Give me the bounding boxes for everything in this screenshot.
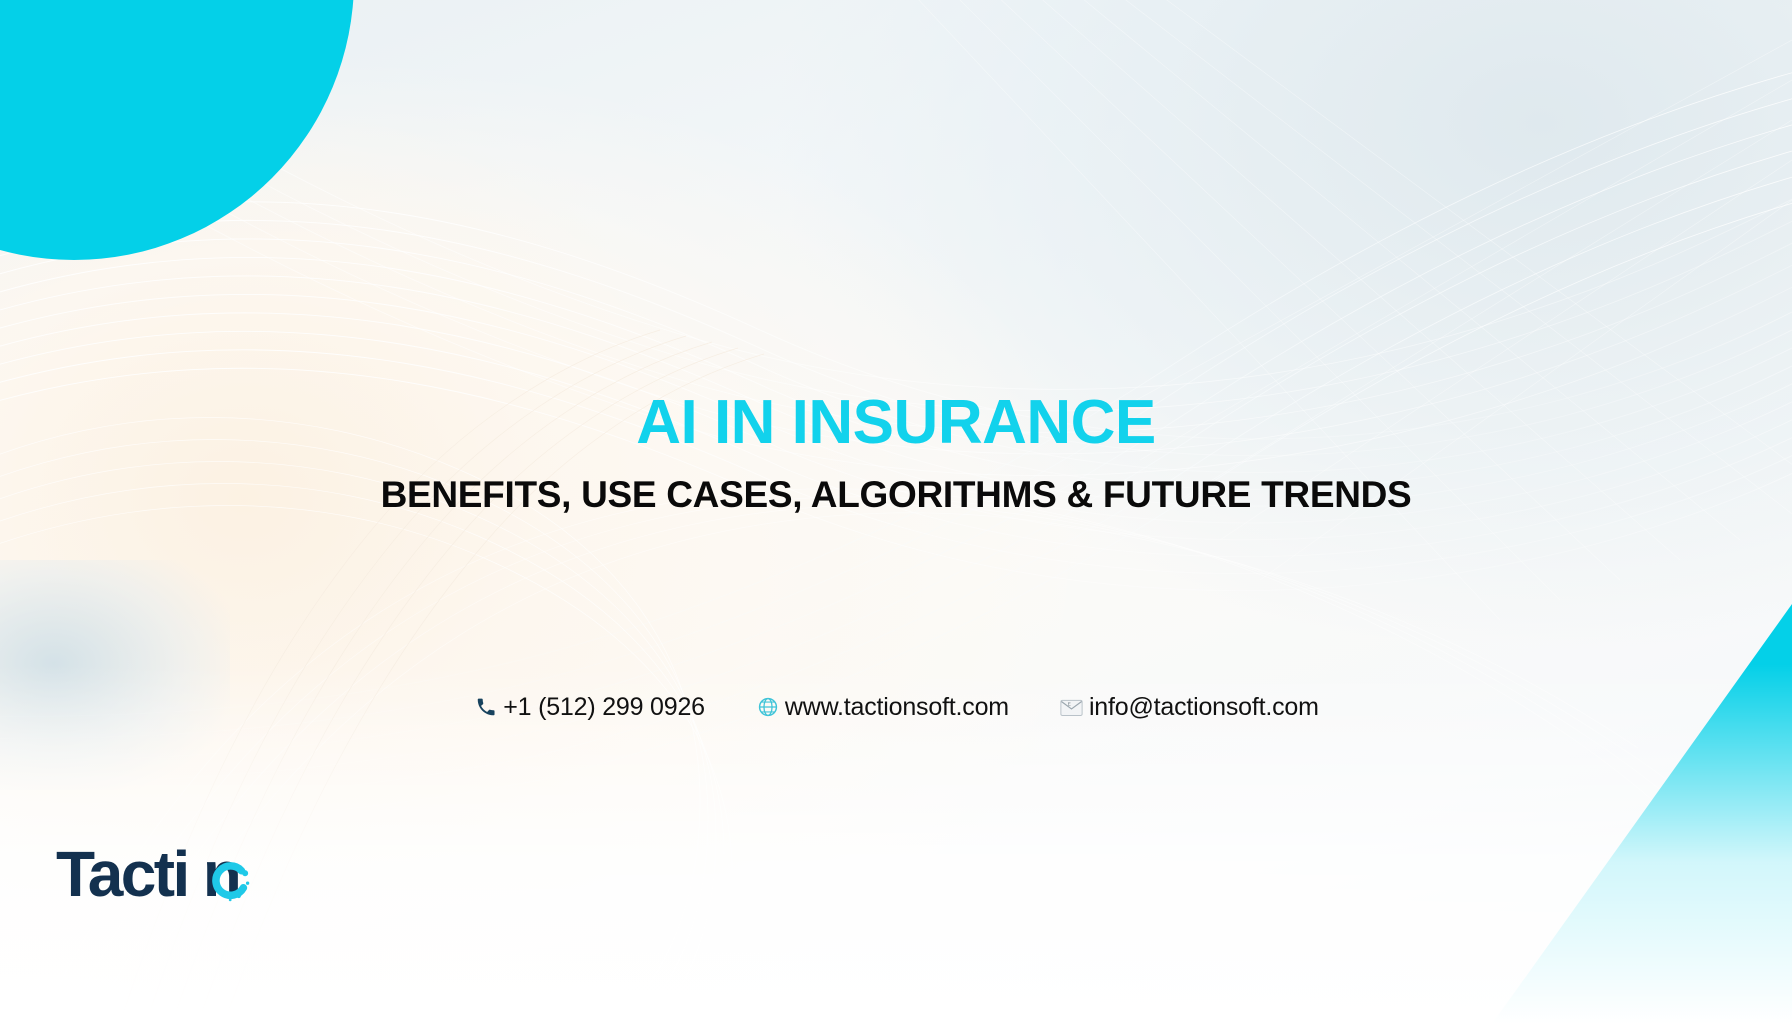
contact-email-text: info@tactionsoft.com [1089,695,1319,720]
contact-row: +1 (512) 299 0926 www.tactionsoft.com [0,694,1792,720]
contact-email[interactable]: E info@tactionsoft.com [1059,694,1319,720]
contact-website-text: www.tactionsoft.com [785,695,1009,720]
headline-block: AI IN INSURANCE BENEFITS, USE CASES, ALG… [0,392,1792,513]
contact-phone[interactable]: +1 (512) 299 0926 [473,694,705,720]
envelope-icon: E [1059,694,1085,720]
phone-icon [473,694,499,720]
contact-website[interactable]: www.tactionsoft.com [755,694,1009,720]
contact-phone-text: +1 (512) 299 0926 [503,695,705,720]
circular-swirl-icon [208,859,252,903]
globe-icon [755,694,781,720]
svg-text:E: E [1068,701,1071,707]
taction-logo[interactable]: Tacti n [56,842,239,906]
page-title: AI IN INSURANCE [0,392,1792,454]
page-subtitle: BENEFITS, USE CASES, ALGORITHMS & FUTURE… [0,476,1792,513]
promo-banner: AI IN INSURANCE BENEFITS, USE CASES, ALG… [0,0,1792,1024]
logo-wordmark: Tacti n [56,842,239,906]
